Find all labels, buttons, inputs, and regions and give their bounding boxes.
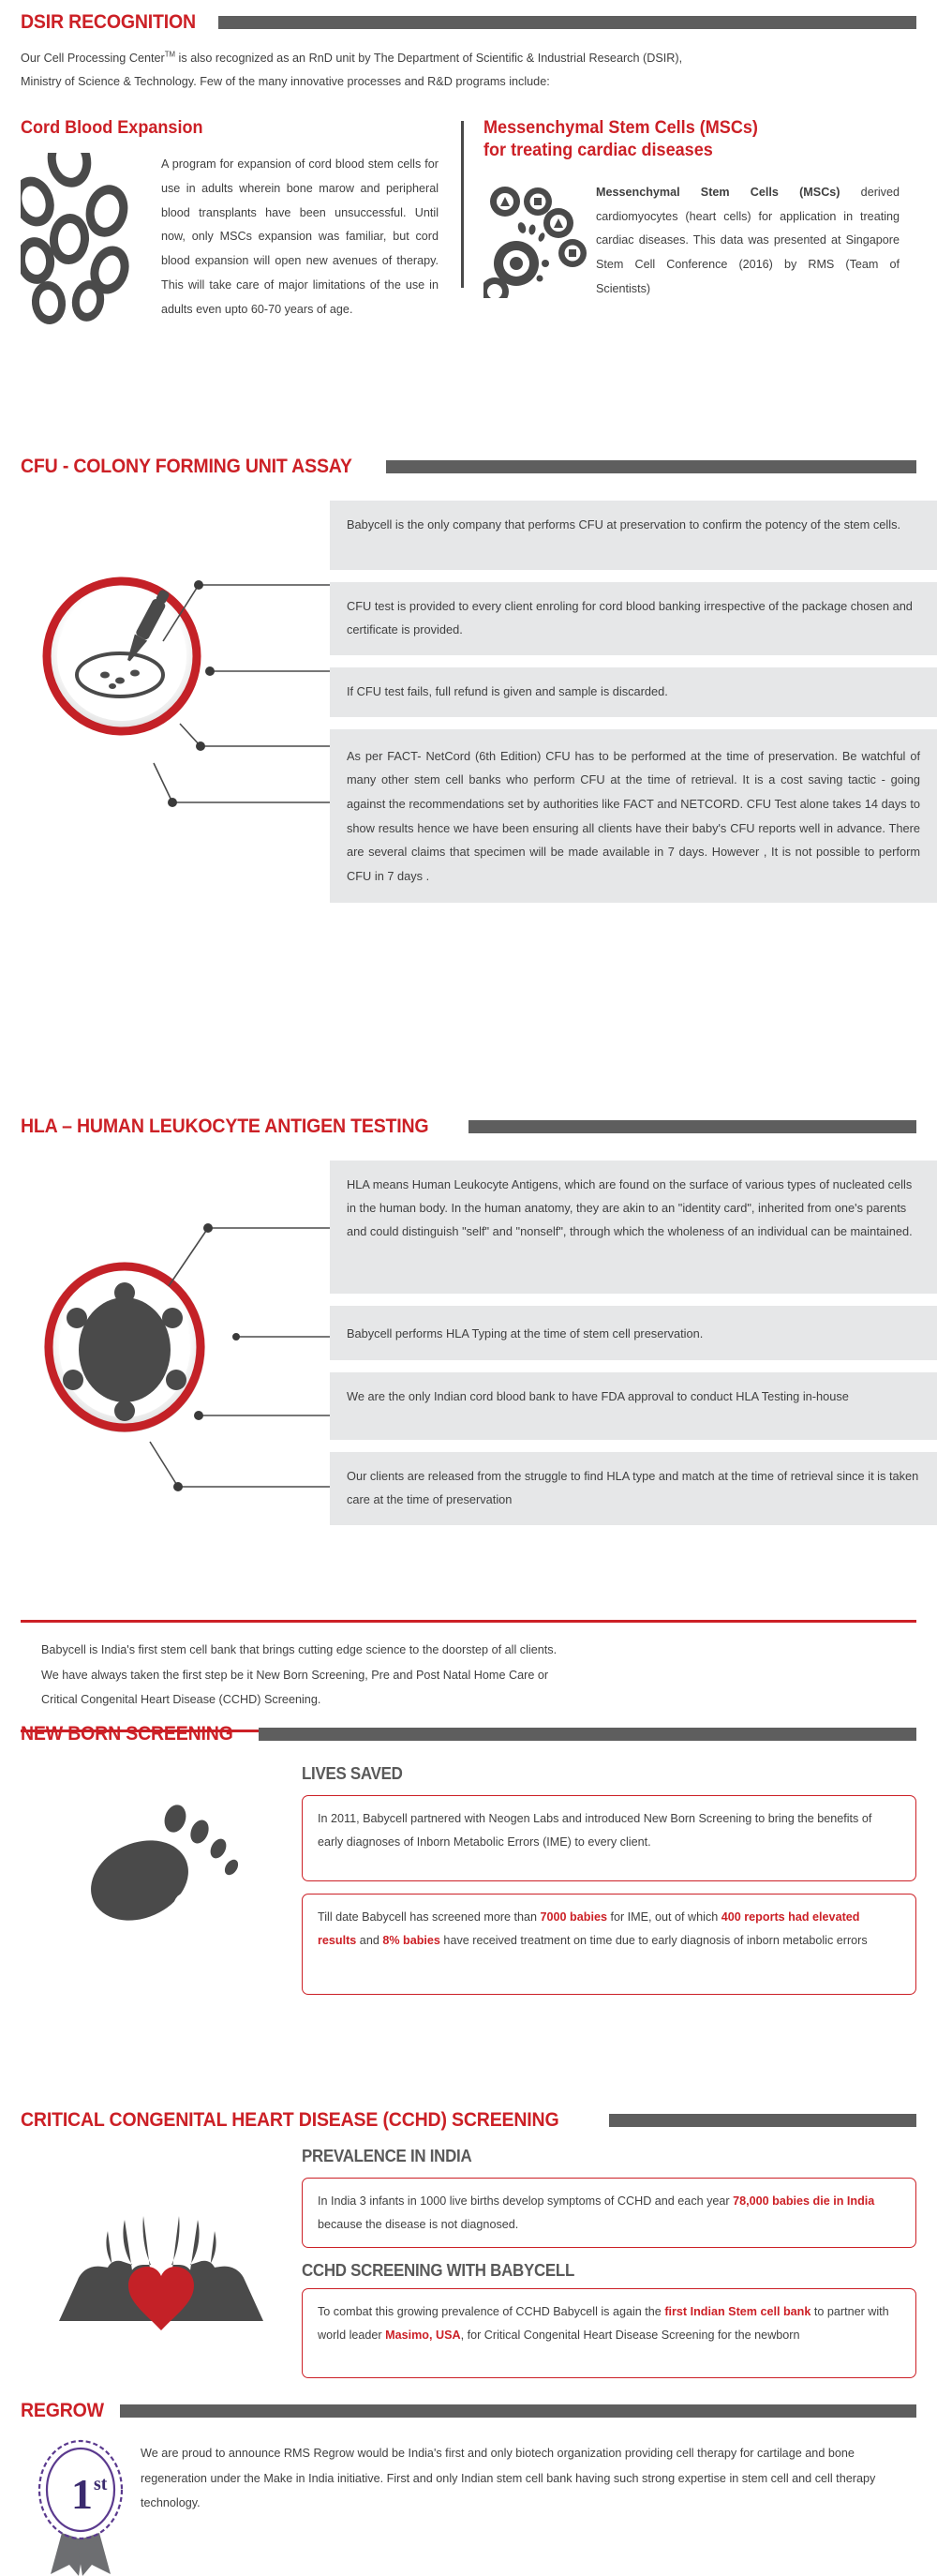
section-cchd-screening: CRITICAL CONGENITAL HEART DISEASE (CCHD)… [21,2109,916,2390]
msc-title-line1: Messenchymal Stem Cells (MSCs) [483,118,758,138]
msc-body: Messenchymal Stem Cells (MSCs) derived c… [596,181,900,303]
petri-dish-pipette-icon [39,574,204,743]
dsir-intro-paragraph: Our Cell Processing CenterTM is also rec… [21,47,867,93]
nbs2-pre: Till date Babycell has screened more tha… [318,1910,541,1924]
section-hla: HLA – HUMAN LEUKOCYTE ANTIGEN TESTING [21,1116,916,1537]
header-bar [218,16,916,29]
header-bar [468,1120,916,1133]
header-bar [386,460,916,473]
dsir-column-cord-blood: Cord Blood Expansion [21,117,459,331]
section-header-newborn: NEW BORN SCREENING [21,1723,916,1745]
section-title: CFU - COLONY FORMING UNIT ASSAY [21,456,352,478]
cfu-row-3: If CFU test fails, full refund is given … [330,667,937,717]
section-regrow: REGROW 1 st We are proud to announce RMS… [21,2400,916,2576]
header-bar [259,1728,916,1741]
cchd-text-column: PREVALENCE IN INDIA In India 3 infants i… [302,2147,916,2390]
nbs2-mid-1: for IME, out of which [607,1910,721,1924]
newborn-text-column: LIVES SAVED In 2011, Babycell partnered … [302,1764,916,2007]
hands-holding-heart-icon [21,2147,302,2390]
cfu-row-2: CFU test is provided to every client enr… [330,582,937,655]
band-line-1: Babycell is India's first stem cell bank… [41,1642,557,1656]
cchd1-post: because the disease is not diagnosed. [318,2218,518,2231]
cchd2-pre: To combat this growing prevalence of CCH… [318,2305,664,2318]
hla-row-3: We are the only Indian cord blood bank t… [330,1372,937,1440]
header-bar [609,2114,916,2127]
trademark-mark: TM [165,51,175,59]
column-divider [461,121,464,288]
lives-saved-subheading: LIVES SAVED [302,1764,880,1784]
newborn-box-2: Till date Babycell has screened more tha… [302,1894,916,1995]
regrow-body: We are proud to announce RMS Regrow woul… [141,2435,878,2516]
antigen-cell-icon [41,1260,208,1439]
nbs2-bold-3: 8% babies [382,1934,440,1947]
cord-blood-body: A program for expansion of cord blood st… [161,153,439,331]
msc-body-rest: derived cardiomyocytes (heart cells) for… [596,186,900,295]
cord-blood-cells-icon [21,153,161,331]
nbs2-post: have received treatment on time due to e… [440,1934,868,1947]
section-title: DSIR RECOGNITION [21,11,196,34]
header-bar [120,2404,916,2418]
section-title: REGROW [21,2400,104,2422]
cfu-row-4: As per FACT- NetCord (6th Edition) CFU h… [330,729,937,904]
first-place-ribbon-icon: 1 st [21,2435,141,2576]
badge-number: 1 [71,2470,93,2518]
section-title: CRITICAL CONGENITAL HEART DISEASE (CCHD)… [21,2109,558,2132]
dsir-intro-line2: Ministry of Science & Technology. Few of… [21,74,550,88]
section-header-cfu: CFU - COLONY FORMING UNIT ASSAY [21,456,916,478]
msc-title-line2: for treating cardiac diseases [483,141,713,160]
badge-suffix: st [94,2474,108,2494]
section-title: NEW BORN SCREENING [21,1723,233,1745]
hla-diagram: HLA means Human Leukocyte Antigens, whic… [21,1161,916,1525]
dsir-intro-line1a: Our Cell Processing Center [21,51,165,65]
cfu-row-1: Babycell is the only company that perfor… [330,501,937,570]
band-line-2: We have always taken the first step be i… [41,1668,548,1682]
section-dsir-recognition: DSIR RECOGNITION Our Cell Processing Cen… [21,11,916,331]
hla-row-list: HLA means Human Leukocyte Antigens, whic… [330,1161,937,1525]
msc-title: Messenchymal Stem Cells (MSCs) for treat… [483,117,879,162]
cchd1-pre: In India 3 infants in 1000 live births d… [318,2194,733,2208]
section-title: HLA – HUMAN LEUKOCYTE ANTIGEN TESTING [21,1116,428,1138]
nbs2-bold-1: 7000 babies [541,1910,607,1924]
nbs2-mid-2: and [356,1934,382,1947]
cchd1-bold: 78,000 babies die in India [733,2194,874,2208]
section-header-cchd: CRITICAL CONGENITAL HEART DISEASE (CCHD)… [21,2109,916,2132]
cchd-babycell-subheading: CCHD SCREENING WITH BABYCELL [302,2261,880,2281]
band-line-3: Critical Congenital Heart Disease (CCHD)… [41,1692,320,1706]
section-header-regrow: REGROW [21,2400,916,2422]
cord-blood-title: Cord Blood Expansion [21,117,418,140]
baby-footprint-icon [21,1764,302,2007]
prevalence-subheading: PREVALENCE IN INDIA [302,2147,880,2166]
cchd2-bold-2: Masimo, USA [385,2329,460,2342]
cchd2-bold-1: first Indian Stem cell bank [664,2305,811,2318]
regrow-content: 1 st We are proud to announce RMS Regrow… [21,2435,916,2576]
newborn-content: LIVES SAVED In 2011, Babycell partnered … [21,1764,916,2007]
msc-body-bold: Messenchymal Stem Cells (MSCs) [596,186,840,199]
dsir-column-msc: Messenchymal Stem Cells (MSCs) for treat… [459,117,900,331]
msc-cells-icon [483,181,596,303]
cfu-diagram: Babycell is the only company that perfor… [21,501,916,903]
section-cfu: CFU - COLONY FORMING UNIT ASSAY [21,456,916,915]
hla-row-4: Our clients are released from the strugg… [330,1452,937,1525]
newborn-box-1: In 2011, Babycell partnered with Neogen … [302,1795,916,1881]
cchd2-post: , for Critical Congenital Heart Disease … [461,2329,800,2342]
section-newborn-screening: NEW BORN SCREENING LIVES SAVED In 2011, … [21,1723,916,2007]
section-header-dsir: DSIR RECOGNITION [21,11,916,34]
hla-row-2: Babycell performs HLA Typing at the time… [330,1306,937,1360]
cfu-row-list: Babycell is the only company that perfor… [330,501,937,903]
cchd-box-1: In India 3 infants in 1000 live births d… [302,2178,916,2248]
band-paragraph: Babycell is India's first stem cell bank… [41,1638,855,1713]
hla-row-1: HLA means Human Leukocyte Antigens, whic… [330,1161,937,1294]
cchd-box-2: To combat this growing prevalence of CCH… [302,2288,916,2378]
dsir-two-column-area: Cord Blood Expansion [21,117,916,331]
highlight-band: Babycell is India's first stem cell bank… [21,1620,916,1732]
cchd-content: PREVALENCE IN INDIA In India 3 infants i… [21,2147,916,2390]
dsir-intro-line1b: is also recognized as an RnD unit by The… [175,51,682,65]
section-header-hla: HLA – HUMAN LEUKOCYTE ANTIGEN TESTING [21,1116,916,1138]
